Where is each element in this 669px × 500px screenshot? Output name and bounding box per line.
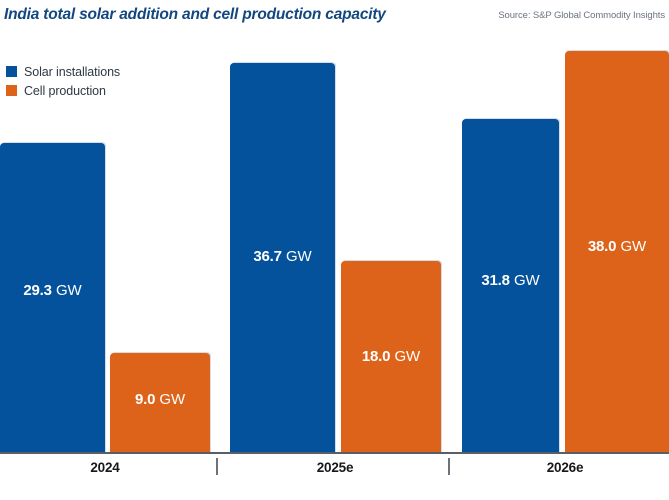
bar-value-number: 29.3 [23,282,51,299]
bar-chart-plot: 29.3 GW9.0 GW36.7 GW18.0 GW31.8 GW38.0 G… [0,0,669,453]
bar-value-number: 9.0 [135,391,155,408]
bar-value-number: 18.0 [362,348,390,365]
bar-2026e-cell-value-label: 38.0 GW [565,238,669,255]
bar-2024-cell-value-label: 9.0 GW [110,391,210,408]
bar-2025e-solar-value-label: 36.7 GW [230,248,335,265]
bar-value-unit: GW [56,282,82,299]
axis-label-2026e: 2026e [505,460,625,475]
axis-tick-1 [216,458,218,475]
axis-label-2025e: 2025e [275,460,395,475]
bar-2026e-solar-value-label: 31.8 GW [462,272,559,289]
axis-tick-2 [448,458,450,475]
bar-2024-solar-value-label: 29.3 GW [0,282,105,299]
x-axis-line [0,452,669,454]
bar-value-unit: GW [514,272,540,289]
axis-label-2024: 2024 [45,460,165,475]
bar-2025e-cell-value-label: 18.0 GW [341,348,441,365]
bar-value-number: 31.8 [481,272,509,289]
bar-value-unit: GW [286,248,312,265]
bar-value-unit: GW [159,391,185,408]
bar-value-number: 36.7 [253,248,281,265]
chart-page: India total solar addition and cell prod… [0,0,669,500]
bar-value-unit: GW [620,238,646,255]
bar-value-number: 38.0 [588,238,616,255]
bar-value-unit: GW [394,348,420,365]
